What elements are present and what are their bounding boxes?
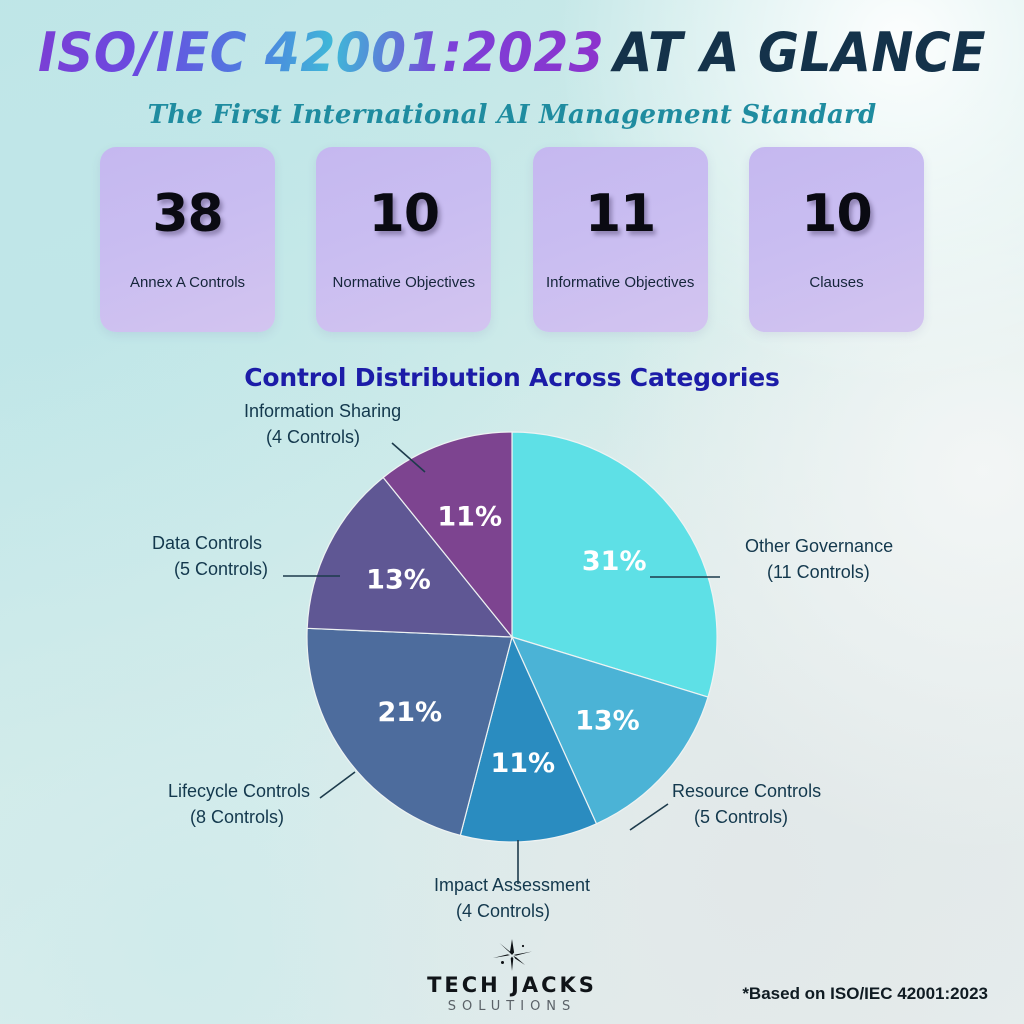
pie-category-label: Resource Controls(5 Controls): [672, 781, 821, 827]
pie-category-label: Other Governance(11 Controls): [745, 536, 893, 582]
infographic-root: ISO/IEC 42001:2023AT A GLANCE The First …: [0, 0, 1024, 1024]
pie-category-label: Data Controls(5 Controls): [152, 533, 268, 579]
stat-label: Clauses: [809, 274, 863, 291]
chart-title: Control Distribution Across Categories: [0, 363, 1024, 392]
pie-category-name: Lifecycle Controls: [168, 781, 310, 801]
stat-label: Normative Objectives: [333, 274, 476, 291]
pie-slice-percent: 13%: [366, 564, 431, 595]
stat-label: Informative Objectives: [546, 274, 694, 291]
stat-label: Annex A Controls: [130, 274, 245, 291]
page-title-suffix: AT A GLANCE: [613, 21, 986, 84]
pie-category-count: (8 Controls): [190, 807, 284, 827]
pie-leader-line: [320, 772, 355, 798]
source-note: *Based on ISO/IEC 42001:2023: [742, 984, 988, 1004]
stat-value: 38: [152, 188, 222, 240]
stat-card-row: 38 Annex A Controls 10 Normative Objecti…: [100, 147, 924, 332]
pie-slice-percent: 11%: [490, 748, 555, 779]
pie-category-label: Impact Assessment(4 Controls): [434, 875, 590, 921]
page-title: ISO/IEC 42001:2023AT A GLANCE: [36, 26, 988, 80]
pie-category-count: (5 Controls): [174, 559, 268, 579]
pie-slice-percent: 21%: [377, 697, 442, 728]
page-subtitle: The First International AI Management St…: [0, 100, 1024, 130]
pie-category-count: (11 Controls): [767, 562, 870, 582]
stat-value: 10: [801, 188, 871, 240]
pie-chart: 31%13%11%21%13%11% Other Governance(11 C…: [0, 400, 1024, 945]
pie-slice-percent: 11%: [437, 502, 502, 533]
page-title-standard: ISO/IEC 42001:2023: [38, 21, 604, 84]
pie-category-label: Information Sharing(4 Controls): [244, 401, 401, 447]
stat-card-annex-a-controls: 38 Annex A Controls: [100, 147, 275, 332]
stat-value: 11: [585, 188, 655, 240]
pie-category-name: Data Controls: [152, 533, 262, 553]
pie-category-label: Lifecycle Controls(8 Controls): [168, 781, 310, 827]
stat-card-informative-objectives: 11 Informative Objectives: [533, 147, 708, 332]
pie-category-name: Resource Controls: [672, 781, 821, 801]
stat-value: 10: [369, 188, 439, 240]
pie-category-count: (5 Controls): [694, 807, 788, 827]
stat-card-normative-objectives: 10 Normative Objectives: [316, 147, 491, 332]
pie-category-name: Impact Assessment: [434, 875, 590, 895]
pie-slices: [307, 432, 717, 842]
pie-category-count: (4 Controls): [266, 427, 360, 447]
stat-card-clauses: 10 Clauses: [749, 147, 924, 332]
pie-category-name: Information Sharing: [244, 401, 401, 421]
pie-leader-line: [630, 804, 668, 830]
pie-category-name: Other Governance: [745, 536, 893, 556]
pie-chart-svg: 31%13%11%21%13%11% Other Governance(11 C…: [0, 400, 1024, 945]
pie-category-count: (4 Controls): [456, 901, 550, 921]
pie-slice-percent: 13%: [575, 706, 640, 737]
pie-slice-percent: 31%: [582, 546, 647, 577]
